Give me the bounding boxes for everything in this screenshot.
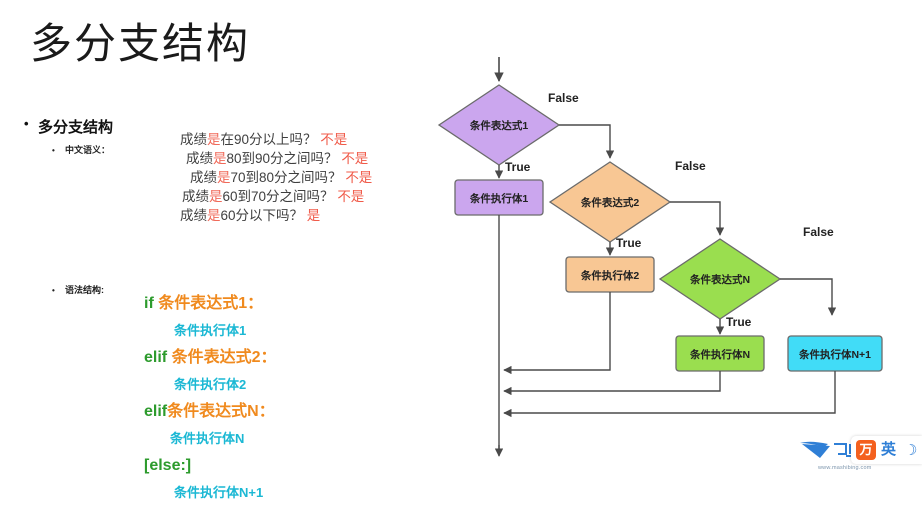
edge-label-false-2: False: [675, 159, 706, 173]
syntax-colon: ：: [259, 403, 275, 420]
syntax-expression: 条件表达式N: [167, 403, 259, 420]
semantics-answer: 不是: [337, 189, 364, 204]
syntax-keyword: if: [144, 295, 154, 312]
flowchart: 条件表达式1 条件执行体1 条件表达式2 条件执行体2 条件表达式N 条件执行体…: [420, 40, 922, 479]
syntax-line-body: 条件执行体N: [144, 425, 277, 452]
node-bodyN1-label: 条件执行体N+1: [788, 347, 882, 362]
semantics-line: 成绩是60到70分之间吗？ 不是: [180, 187, 372, 206]
semantics-answer: 不是: [341, 151, 368, 166]
node-bodyN-label: 条件执行体N: [676, 347, 764, 362]
bullet-level2-semantics: •中文语义：: [52, 143, 110, 156]
moon-icon: ☽: [904, 441, 917, 461]
node-body2-label: 条件执行体2: [566, 268, 654, 283]
node-body1-label: 条件执行体1: [455, 191, 543, 206]
syntax-keyword: [else:]: [144, 457, 191, 474]
watermark-brand-icon: 万: [856, 440, 876, 460]
edge-label-false-1: False: [548, 91, 579, 105]
semantics-prefix: 成绩: [180, 208, 207, 223]
bullet-dot-icon: •: [24, 116, 38, 131]
syntax-line-else: [else:]: [144, 452, 277, 479]
slide-canvas: 多分支结构 •多分支结构 •中文语义： •语法结构: 成绩是在90分以上吗？ 不…: [0, 0, 922, 479]
syntax-line-body: 条件执行体1: [144, 317, 277, 344]
semantics-highlight: 是: [217, 170, 231, 185]
semantics-question: 80到90分之间吗？: [227, 151, 338, 166]
semantics-question: 60分以下吗？: [221, 208, 304, 223]
semantics-answer: 是: [307, 208, 321, 223]
semantics-line: 成绩是80到90分之间吗？ 不是: [180, 149, 372, 168]
syntax-line-if: if 条件表达式1：: [144, 290, 277, 317]
semantics-highlight: 是: [209, 189, 223, 204]
edge-label-false-n: False: [803, 225, 834, 239]
bullet-dot-icon: •: [52, 286, 65, 295]
watermark-chip-text: 英: [881, 440, 896, 460]
semantics-highlight: 是: [207, 132, 221, 147]
bullet-level1-label: 多分支结构: [38, 119, 113, 136]
semantics-highlight: 是: [213, 151, 227, 166]
syntax-keyword: elif: [144, 349, 167, 366]
syntax-keyword: elif: [144, 403, 167, 420]
semantics-answer: 不是: [345, 170, 372, 185]
semantics-prefix: 成绩: [186, 151, 213, 166]
syntax-line-body: 条件执行体N+1: [144, 479, 277, 506]
bullet-dot-icon: •: [52, 146, 65, 155]
semantics-text-block: 成绩是在90分以上吗？ 不是 成绩是80到90分之间吗？ 不是 成绩是70到80…: [180, 130, 372, 225]
semantics-question: 在90分以上吗？: [221, 132, 317, 147]
semantics-line: 成绩是在90分以上吗？ 不是: [180, 130, 372, 149]
semantics-prefix: 成绩: [182, 189, 209, 204]
semantics-question: 60到70分之间吗？: [223, 189, 334, 204]
node-condN-label: 条件表达式N: [684, 272, 756, 287]
syntax-colon: ：: [260, 349, 276, 366]
syntax-body: 条件执行体N: [170, 431, 244, 446]
bullet-level2-syntax: •语法结构:: [52, 283, 104, 296]
syntax-line-body: 条件执行体2: [144, 371, 277, 398]
semantics-line: 成绩是70到80分之间吗？ 不是: [180, 168, 372, 187]
syntax-body: 条件执行体1: [174, 323, 246, 338]
syntax-code-block: if 条件表达式1： 条件执行体1 elif 条件表达式2： 条件执行体2 el…: [144, 290, 277, 506]
node-cond2-label: 条件表达式2: [574, 195, 646, 210]
semantics-highlight: 是: [207, 208, 221, 223]
watermark-chip: 万 英 ☽: [851, 436, 922, 464]
bullet-level1: •多分支结构: [24, 116, 113, 137]
watermark-url: www.mashibing.com: [818, 465, 872, 471]
node-cond1-label: 条件表达式1: [463, 118, 535, 133]
syntax-line-elif-n: elif条件表达式N：: [144, 398, 277, 425]
syntax-body: 条件执行体N+1: [174, 485, 263, 500]
edge-label-true-1: True: [505, 160, 530, 174]
semantics-prefix: 成绩: [190, 170, 217, 185]
syntax-expression: 条件表达式2: [172, 349, 261, 366]
bullet-level2-semantics-label: 中文语义：: [65, 145, 110, 155]
semantics-line: 成绩是60分以下吗？ 是: [180, 206, 372, 225]
semantics-answer: 不是: [320, 132, 347, 147]
edge-label-true-2: True: [616, 236, 641, 250]
bullet-level2-syntax-label: 语法结构:: [65, 285, 104, 295]
page-title: 多分支结构: [30, 18, 250, 70]
syntax-line-elif: elif 条件表达式2：: [144, 344, 277, 371]
semantics-question: 70到80分之间吗？: [231, 170, 342, 185]
edge-label-true-n: True: [726, 315, 751, 329]
semantics-prefix: 成绩: [180, 132, 207, 147]
syntax-expression: 条件表达式1: [158, 295, 247, 312]
watermark: www.mashibing.com 万 英 ☽: [796, 432, 922, 479]
syntax-colon: ：: [247, 295, 263, 312]
syntax-body: 条件执行体2: [174, 377, 246, 392]
